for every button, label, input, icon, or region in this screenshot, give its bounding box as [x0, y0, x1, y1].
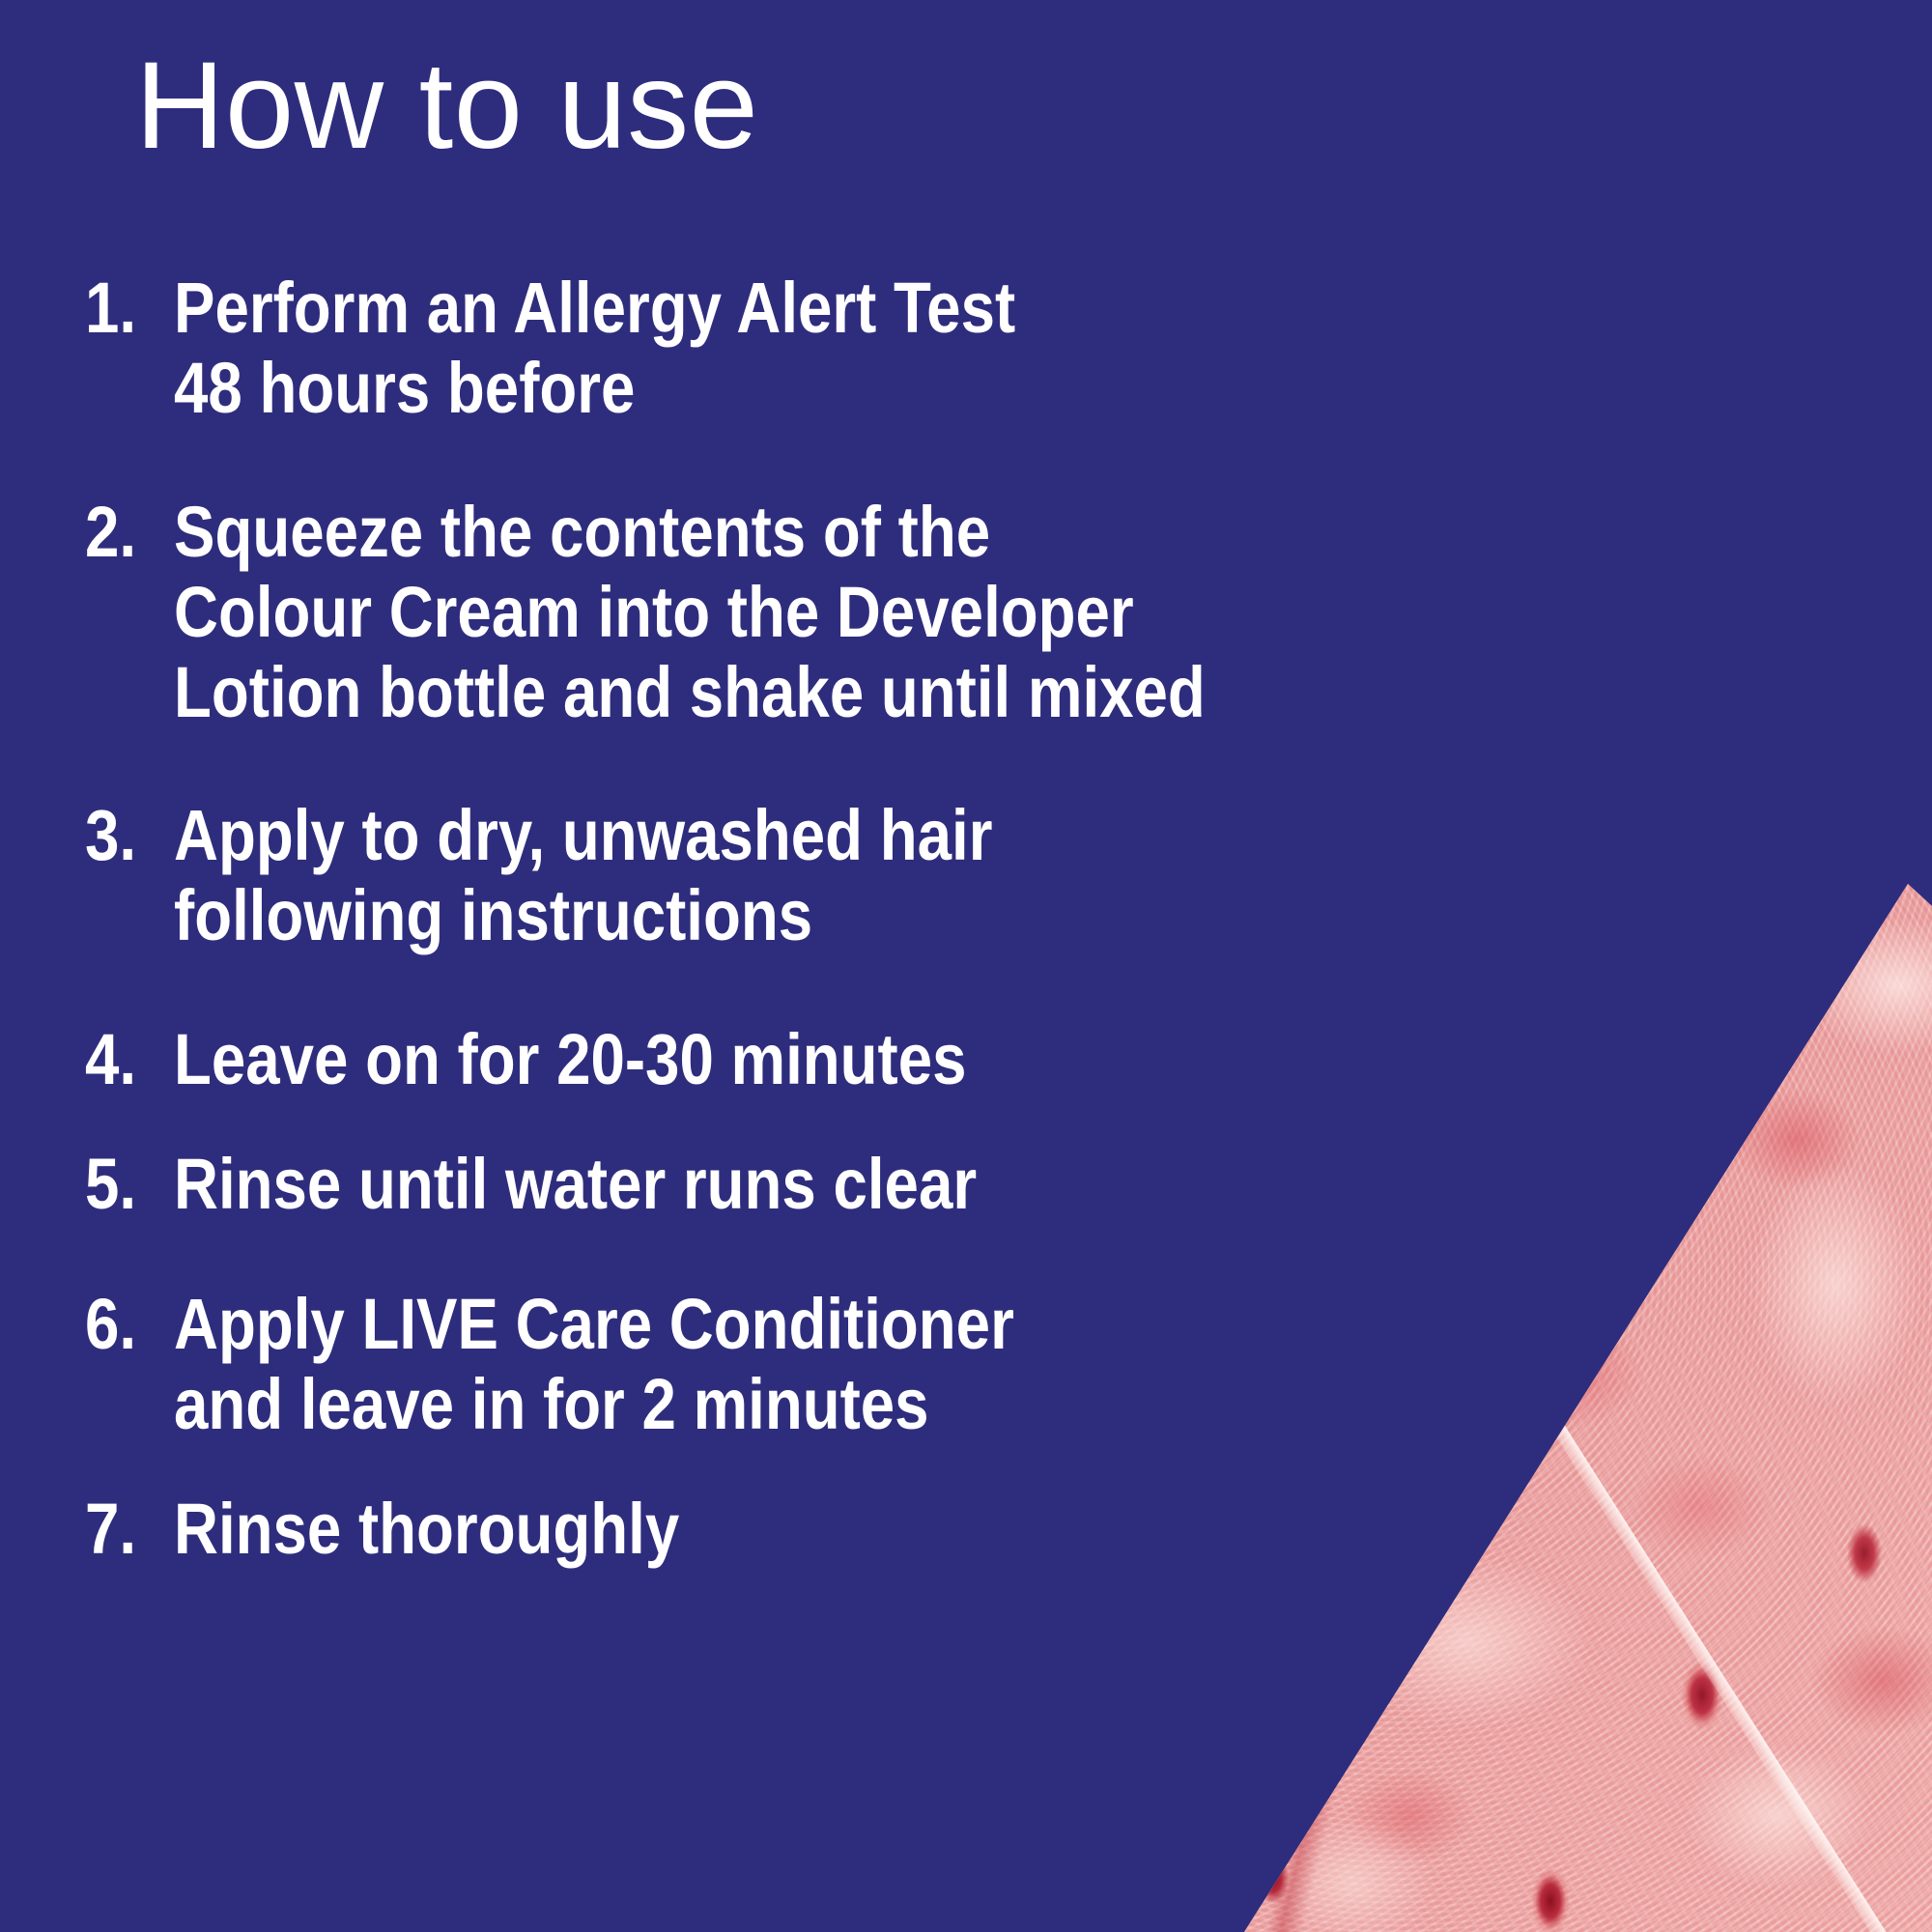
- step-text: Apply to dry, unwashed hair following in…: [174, 796, 1304, 956]
- step-text: Rinse until water runs clear: [174, 1145, 1304, 1225]
- list-item: 6. Apply LIVE Care Conditioner and leave…: [0, 1285, 1932, 1445]
- step-text: Perform an Allergy Alert Test 48 hours b…: [174, 269, 1304, 429]
- list-item: 5. Rinse until water runs clear: [0, 1145, 1932, 1225]
- list-item: 3. Apply to dry, unwashed hair following…: [0, 796, 1932, 956]
- instruction-steps-list: 1. Perform an Allergy Alert Test 48 hour…: [0, 269, 1932, 1570]
- step-number: 2.: [85, 493, 161, 573]
- step-number: 1.: [85, 269, 161, 349]
- step-text: Leave on for 20-30 minutes: [174, 1020, 1304, 1100]
- step-number: 5.: [85, 1145, 161, 1225]
- list-item: 1. Perform an Allergy Alert Test 48 hour…: [0, 269, 1932, 429]
- how-to-use-panel: How to use 1. Perform an Allergy Alert T…: [0, 0, 1932, 1932]
- step-text: Rinse thoroughly: [174, 1490, 1304, 1570]
- page-title: How to use: [0, 0, 1932, 168]
- step-number: 3.: [85, 796, 161, 876]
- step-number: 4.: [85, 1020, 161, 1100]
- step-text: Apply LIVE Care Conditioner and leave in…: [174, 1285, 1304, 1445]
- content-column: How to use 1. Perform an Allergy Alert T…: [0, 0, 1932, 1570]
- step-text: Squeeze the contents of the Colour Cream…: [174, 493, 1304, 733]
- step-number: 7.: [85, 1490, 161, 1570]
- step-number: 6.: [85, 1285, 161, 1365]
- list-item: 2. Squeeze the contents of the Colour Cr…: [0, 493, 1932, 733]
- list-item: 4. Leave on for 20-30 minutes: [0, 1020, 1932, 1100]
- list-item: 7. Rinse thoroughly: [0, 1490, 1932, 1570]
